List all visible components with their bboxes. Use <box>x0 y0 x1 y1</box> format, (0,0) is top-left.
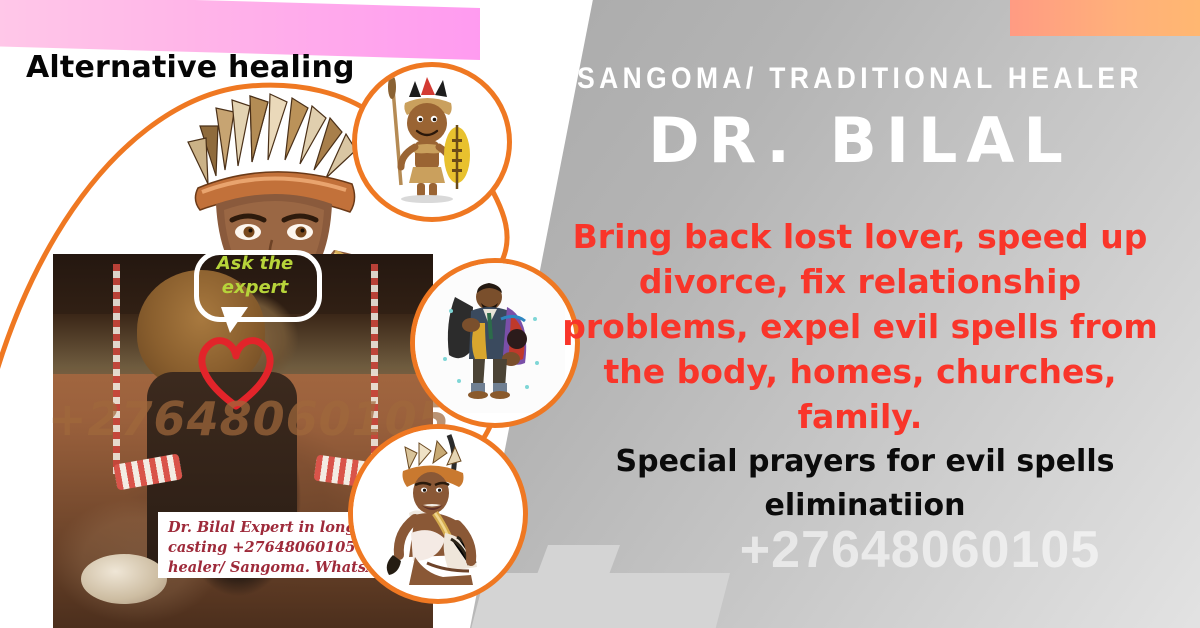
phone-watermark: +27648060105 <box>640 520 1200 580</box>
page-title: Alternative healing <box>26 50 355 85</box>
kicker-text: SANGOMA/ TRADITIONAL HEALER <box>570 62 1151 96</box>
circle-zulu-warrior-cartoon <box>352 62 512 222</box>
right-text-column: SANGOMA/ TRADITIONAL HEALER DR. BILAL Br… <box>530 0 1190 628</box>
subpitch-text: Special prayers for evil spells eliminat… <box>570 440 1160 528</box>
pitch-text: Bring back lost lover, speed up divorce,… <box>550 214 1170 439</box>
poster-root: Alternative healing <box>0 0 1200 628</box>
photo-ritual-bowl <box>81 554 167 604</box>
brand-name: DR. BILAL <box>530 104 1190 177</box>
speech-bubble-text: Ask the expert <box>200 252 310 300</box>
circle-crouching-healer <box>348 424 528 604</box>
